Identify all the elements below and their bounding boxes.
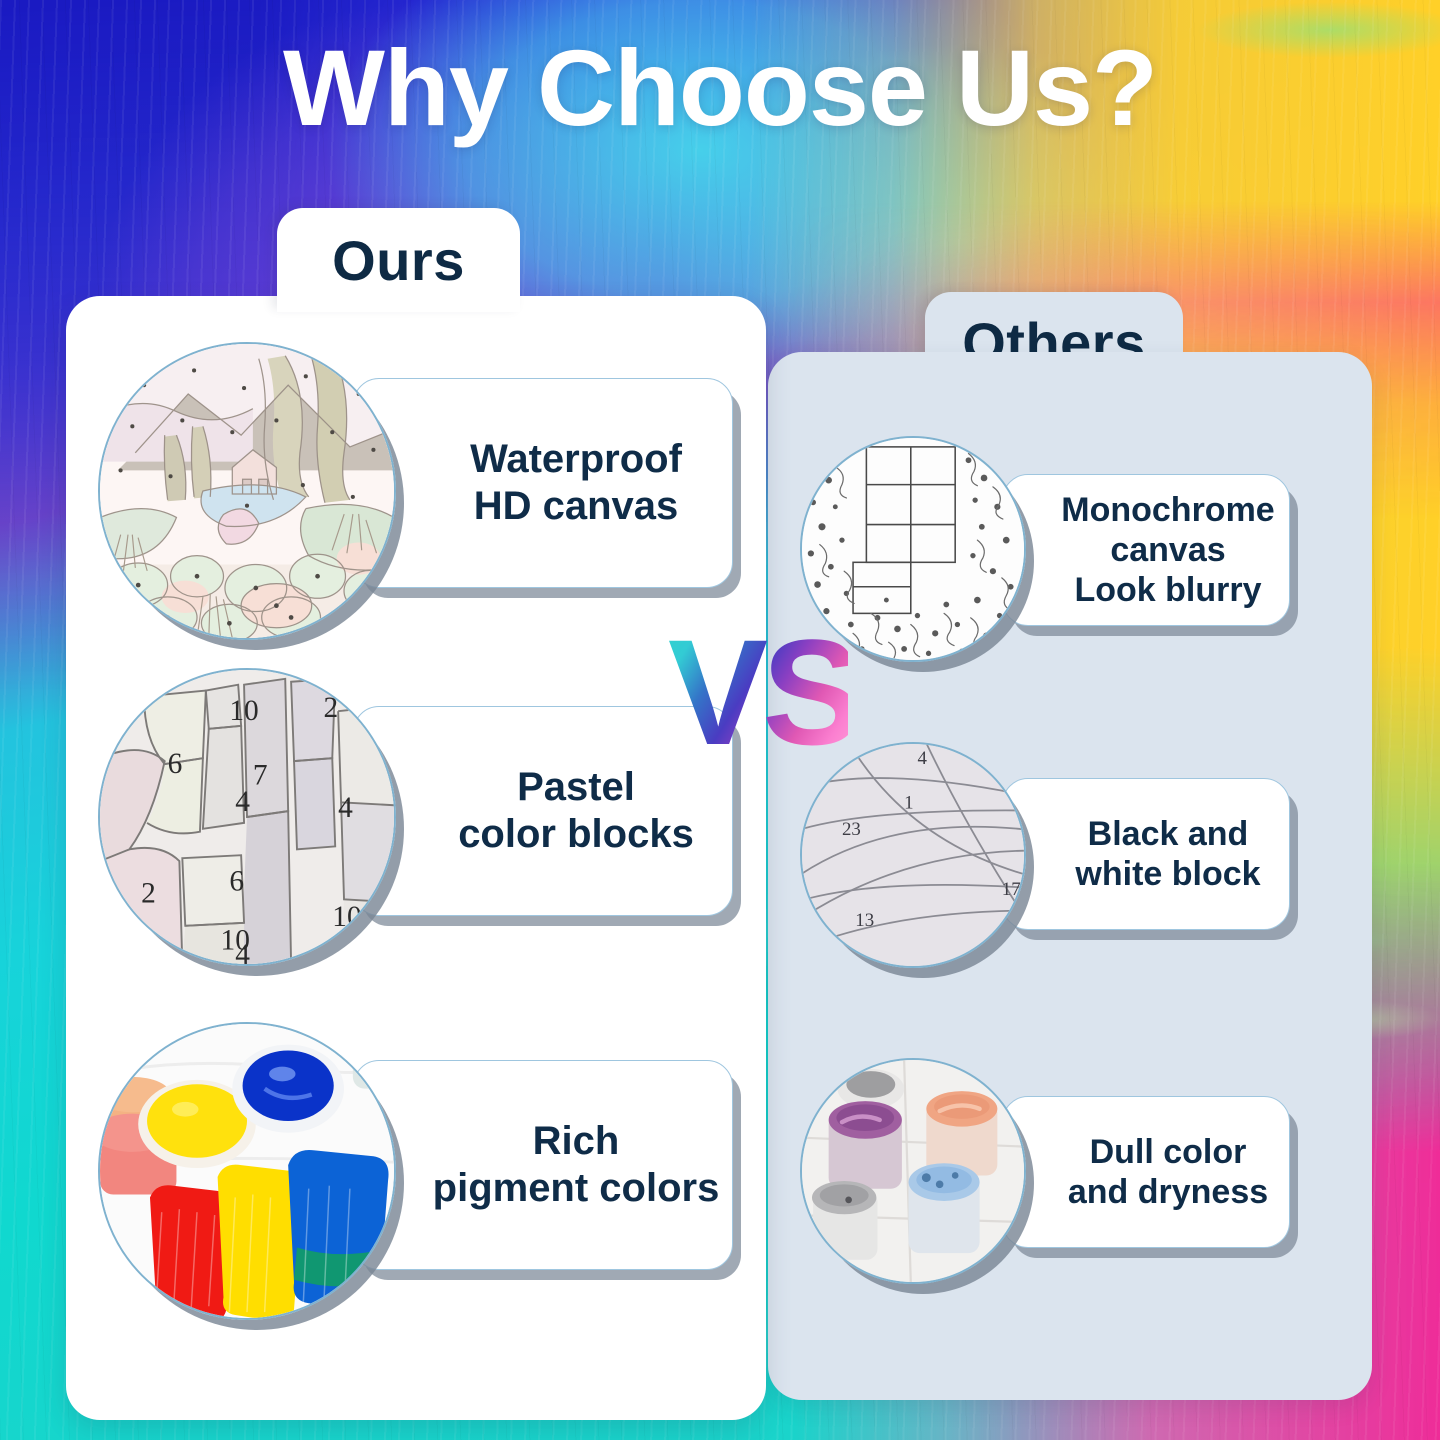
ours-feature-2-line1: Pastel [458, 764, 694, 811]
svg-text:4: 4 [338, 792, 353, 824]
others-feature-1-line2: canvas [1061, 530, 1274, 570]
infographic-canvas: Why Choose Us? Others Monochrome canvas … [0, 0, 1440, 1440]
svg-text:10: 10 [229, 695, 258, 727]
svg-text:17: 17 [1002, 879, 1021, 900]
ours-feature-3-image [98, 1022, 396, 1320]
tab-ours[interactable]: Ours [277, 208, 520, 312]
others-feature-1-line3: Look blurry [1061, 570, 1274, 610]
page-title: Why Choose Us? [0, 26, 1440, 150]
ours-feature-1-label: Waterproof HD canvas [353, 378, 733, 588]
svg-text:2: 2 [141, 877, 156, 909]
ours-feature-1-line2: HD canvas [470, 483, 682, 530]
ours-feature-3-line2: pigment colors [433, 1165, 720, 1212]
svg-text:6: 6 [229, 866, 244, 898]
others-feature-2-label: Black and white block [1002, 778, 1290, 930]
others-feature-2-line2: white block [1075, 854, 1260, 894]
svg-text:4: 4 [235, 939, 250, 964]
ours-feature-2-line2: color blocks [458, 811, 694, 858]
others-feature-3-image [800, 1058, 1026, 1284]
others-feature-1-line1: Monochrome [1061, 490, 1274, 530]
ours-feature-2-image: 6 2 10 4 7 6 10 4 2 4 10 [98, 668, 396, 966]
rich-pigment-paints-icon [100, 1024, 394, 1318]
svg-text:7: 7 [253, 760, 268, 792]
pastel-color-blocks-icon: 6 2 10 4 7 6 10 4 2 4 10 [100, 670, 394, 964]
svg-text:4: 4 [917, 748, 927, 769]
ours-feature-1-line1: Waterproof [470, 436, 682, 483]
svg-text:13: 13 [855, 910, 874, 931]
dull-paint-pots-icon [802, 1060, 1024, 1282]
svg-text:23: 23 [842, 819, 861, 840]
pastel-canvas-icon [100, 344, 394, 638]
others-feature-3-label: Dull color and dryness [1002, 1096, 1290, 1248]
others-feature-3-line1: Dull color [1068, 1132, 1268, 1172]
tab-ours-label: Ours [332, 228, 465, 293]
others-feature-1-label: Monochrome canvas Look blurry [1002, 474, 1290, 626]
blank-numbered-canvas-icon: 4 1 23 13 17 [802, 744, 1024, 966]
others-feature-2-line1: Black and [1075, 814, 1260, 854]
svg-text:6: 6 [168, 748, 183, 780]
ours-feature-1-image [98, 342, 396, 640]
others-feature-3-line2: and dryness [1068, 1172, 1268, 1212]
ours-feature-3-label: Rich pigment colors [353, 1060, 733, 1270]
vs-badge: VS [668, 622, 848, 762]
ours-feature-3-line1: Rich [433, 1118, 720, 1165]
svg-text:2: 2 [323, 692, 338, 724]
svg-text:4: 4 [235, 786, 250, 818]
svg-text:1: 1 [904, 792, 913, 813]
